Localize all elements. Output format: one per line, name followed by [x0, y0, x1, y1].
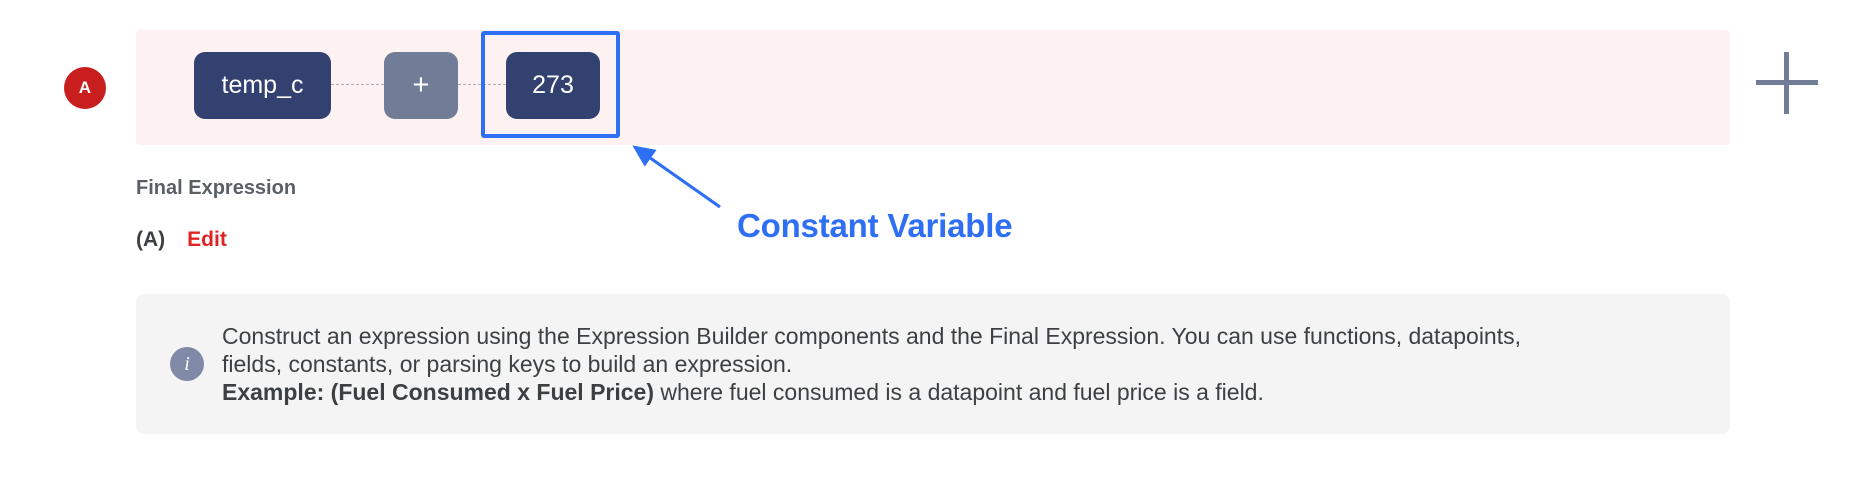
info-example-prefix: Example: (Fuel Consumed x Fuel Price) [222, 379, 654, 405]
expression-chip-field[interactable]: temp_c [194, 52, 331, 119]
info-line-2: fields, constants, or parsing keys to bu… [222, 351, 792, 377]
final-expression-key: (A) [136, 228, 165, 252]
group-badge-a: A [64, 67, 106, 109]
info-line-1: Construct an expression using the Expres… [222, 323, 1521, 349]
annotation-arrow-icon [620, 135, 740, 220]
info-icon: i [170, 347, 204, 381]
final-expression-section-label: Final Expression [136, 177, 296, 200]
constant-highlight-box [481, 31, 620, 138]
final-expression-edit-link[interactable]: Edit [187, 228, 227, 252]
expression-row [136, 30, 1730, 145]
final-expression-row: (A) Edit [136, 228, 227, 252]
info-box: i Construct an expression using the Expr… [136, 294, 1730, 434]
expression-chip-operator[interactable]: + [384, 52, 458, 119]
annotation-label: Constant Variable [737, 207, 1012, 245]
info-box-text: Construct an expression using the Expres… [222, 322, 1710, 406]
chip-connector-1 [331, 84, 384, 85]
add-expression-plus-icon[interactable] [1756, 52, 1818, 114]
info-example-suffix: where fuel consumed is a datapoint and f… [654, 379, 1264, 405]
